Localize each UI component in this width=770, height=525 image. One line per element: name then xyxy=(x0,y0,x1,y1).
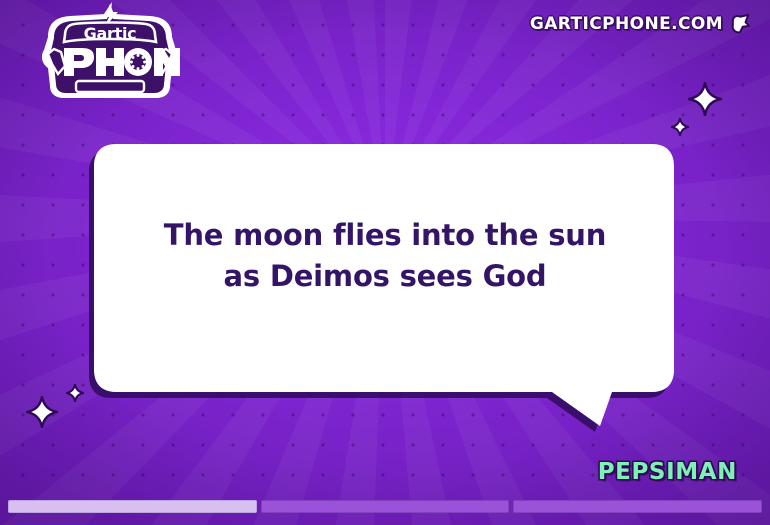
site-url[interactable]: GARTICPHONE.COM xyxy=(530,14,752,34)
sparkle-large-bottom-left xyxy=(26,396,58,428)
progress-segment-1[interactable] xyxy=(8,500,257,513)
progress-bar xyxy=(8,500,762,513)
sparkle-small-bottom-left xyxy=(66,384,84,402)
gartic-phone-result-screen: Gartic xyxy=(0,0,770,525)
sparkle-large-top-right xyxy=(688,82,722,116)
gartic-phone-logo[interactable]: Gartic xyxy=(34,2,186,100)
progress-segment-3[interactable] xyxy=(513,500,762,513)
svg-text:Gartic: Gartic xyxy=(84,24,137,43)
gartic-pencil-mark-icon xyxy=(730,14,752,34)
sparkle-small-top-right xyxy=(671,118,689,136)
author-name: PEPSIMAN xyxy=(598,459,737,485)
progress-segment-2[interactable] xyxy=(261,500,510,513)
site-url-text: GARTICPHONE.COM xyxy=(530,14,723,34)
prompt-text: The moon flies into the sun as Deimos se… xyxy=(110,215,660,297)
